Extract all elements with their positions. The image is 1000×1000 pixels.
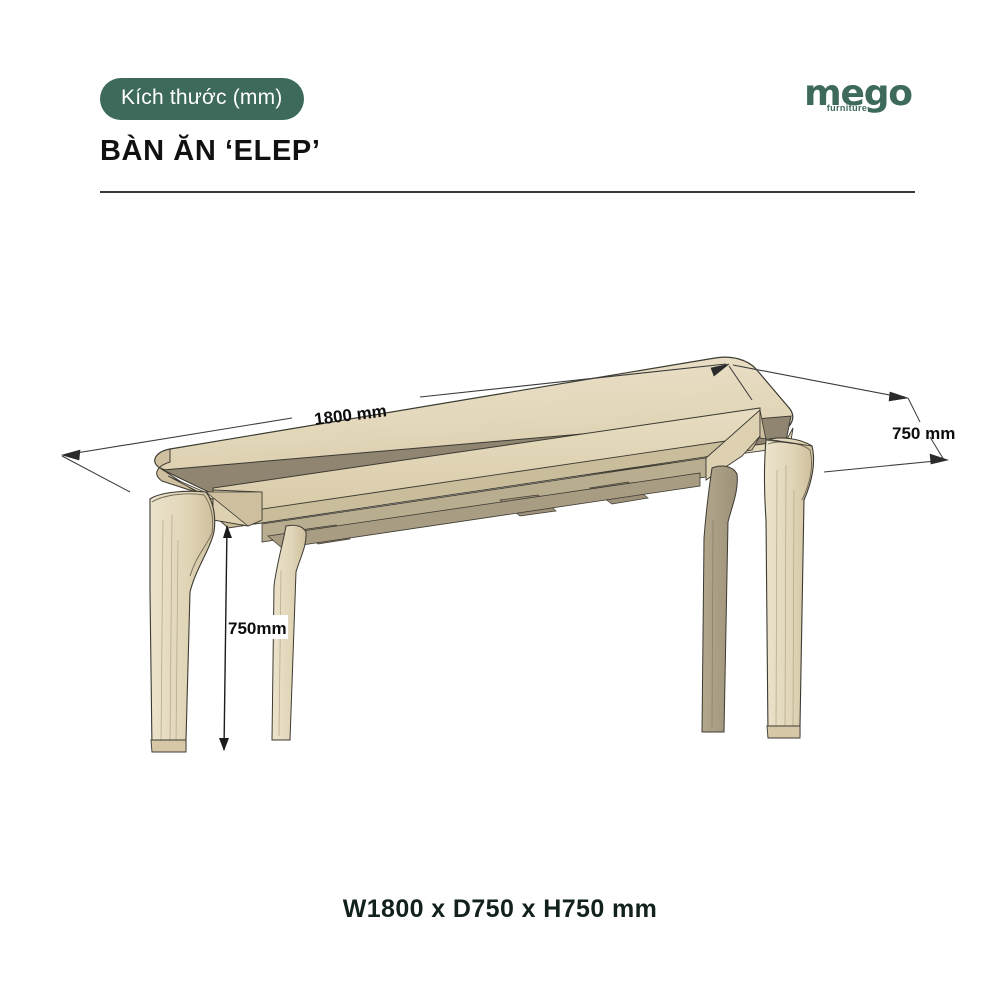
leg-front-left (150, 491, 215, 752)
leg-back-right-face (702, 466, 737, 732)
table-illustration-svg: 1800 mm 750 mm (0, 340, 1000, 810)
page-title: BÀN ĂN ‘ELEP’ (100, 137, 915, 166)
header-divider (100, 191, 915, 193)
brand-logo: mego furniture (798, 76, 918, 138)
product-drawing: 1800 mm 750 mm (0, 340, 1000, 810)
dimension-badge: Kích thước (mm) (100, 78, 304, 120)
height-arrow-bottom (219, 738, 229, 751)
width-arrow-left (62, 450, 80, 460)
width-ext-left (62, 456, 130, 492)
depth-arrow-lower (930, 454, 948, 464)
depth-label: 750 mm (892, 424, 955, 443)
header: Kích thước (mm) BÀN ĂN ‘ELEP’ (100, 78, 915, 193)
leg-front-right-face (765, 438, 814, 736)
leg-back-right (702, 466, 737, 732)
page-root: Kích thước (mm) BÀN ĂN ‘ELEP’ mego furni… (0, 0, 1000, 1000)
height-label: 750mm (228, 619, 287, 638)
leg-front-right (765, 438, 814, 738)
leg-front-left-face (150, 491, 215, 750)
leg-front-right-foot (767, 726, 800, 738)
depth-dim-line-lower (824, 460, 946, 472)
height-dim-line (224, 526, 227, 750)
depth-ext-upper (908, 398, 920, 422)
depth-arrow-upper (889, 392, 908, 401)
leg-front-left-foot (151, 740, 186, 752)
spec-caption: W1800 x D750 x H750 mm (0, 895, 1000, 924)
